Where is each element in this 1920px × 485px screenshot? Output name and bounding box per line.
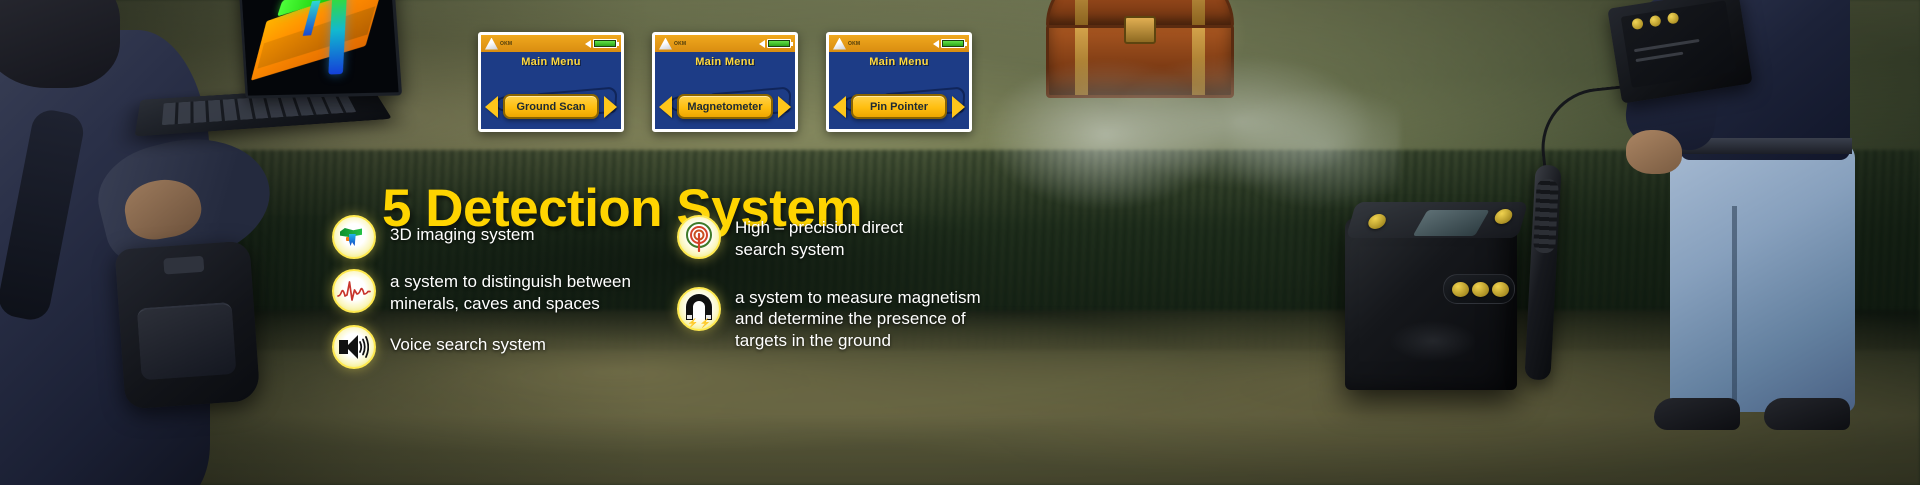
battery-full-icon bbox=[767, 39, 791, 48]
laptop-screen bbox=[238, 0, 402, 99]
feature-column-left: 3D imaging system a system to distinguis… bbox=[332, 215, 662, 379]
laptop-device bbox=[140, 0, 390, 164]
control-unit-body bbox=[1345, 218, 1517, 390]
right-operator-figure bbox=[1640, 0, 1920, 485]
speaker-sound-glyph bbox=[339, 335, 369, 359]
signal-waveform-glyph bbox=[337, 279, 371, 303]
brand-logo: OKM bbox=[485, 38, 512, 50]
chevron-right-icon[interactable] bbox=[604, 96, 617, 118]
operator-shoe-right bbox=[1764, 398, 1850, 430]
scan-depth-column bbox=[328, 0, 347, 75]
feature-label: a system to distinguish between minerals… bbox=[390, 269, 631, 315]
control-unit-knob-panel bbox=[1443, 274, 1515, 304]
magnet-glyph: ⚡⚡ bbox=[686, 294, 712, 324]
signal-waveform-icon bbox=[332, 269, 376, 313]
menu-status-bar: OKM bbox=[829, 35, 969, 52]
right-operator-hand bbox=[1626, 130, 1682, 174]
menu-mode-button[interactable]: Pin Pointer bbox=[851, 94, 947, 119]
menu-screen-pin-pointer[interactable]: OKM Main Menu Pin Pointer bbox=[826, 32, 972, 132]
menu-mode-button[interactable]: Ground Scan bbox=[503, 94, 599, 119]
speaker-icon bbox=[759, 40, 765, 48]
menu-title: Main Menu bbox=[481, 56, 621, 68]
feature-item-mineral-distinguish: a system to distinguish between minerals… bbox=[332, 269, 662, 315]
speaker-sound-icon bbox=[332, 325, 376, 369]
chevron-left-icon[interactable] bbox=[833, 96, 846, 118]
logo-text: OKM bbox=[848, 41, 860, 47]
menu-title: Main Menu bbox=[829, 56, 969, 68]
top-knob-left bbox=[1366, 214, 1387, 229]
control-unit-display bbox=[1413, 210, 1490, 236]
bag-clip bbox=[163, 256, 204, 275]
brand-logo: OKM bbox=[833, 38, 860, 50]
radar-target-glyph bbox=[684, 222, 714, 252]
chevron-left-icon[interactable] bbox=[659, 96, 672, 118]
probe-grip bbox=[1533, 179, 1559, 254]
status-indicators bbox=[585, 39, 617, 48]
speaker-icon bbox=[933, 40, 939, 48]
status-indicators bbox=[759, 39, 791, 48]
brand-logo: OKM bbox=[659, 38, 686, 50]
equipment-bag bbox=[115, 240, 261, 409]
control-knob-2 bbox=[1472, 282, 1489, 297]
menu-selector-row: Magnetometer bbox=[655, 94, 795, 119]
status-indicators bbox=[933, 39, 965, 48]
control-knob-1 bbox=[1452, 282, 1469, 297]
menu-screen-ground-scan[interactable]: OKM Main Menu Ground Scan bbox=[478, 32, 624, 132]
device-menu-screens: OKM Main Menu Ground Scan bbox=[478, 32, 972, 132]
3d-terrain-icon bbox=[332, 215, 376, 259]
feature-item-magnetism: ⚡⚡ a system to measure magnetism and det… bbox=[677, 287, 1022, 352]
menu-selector-row: Pin Pointer bbox=[829, 94, 969, 119]
3d-terrain-glyph bbox=[339, 226, 369, 248]
feature-item-3d-imaging: 3D imaging system bbox=[332, 215, 662, 259]
feature-label: 3D imaging system bbox=[390, 215, 535, 246]
feature-label: Voice search system bbox=[390, 325, 546, 356]
chevron-right-icon[interactable] bbox=[778, 96, 791, 118]
control-unit-logo-emboss bbox=[1373, 313, 1493, 369]
menu-mode-button[interactable]: Magnetometer bbox=[677, 94, 773, 119]
detector-control-unit bbox=[1345, 200, 1530, 395]
radar-target-icon bbox=[677, 215, 721, 259]
speaker-icon bbox=[585, 40, 591, 48]
feature-label: a system to measure magnetism and determ… bbox=[735, 287, 981, 352]
magnet-icon: ⚡⚡ bbox=[677, 287, 721, 331]
menu-status-bar: OKM bbox=[481, 35, 621, 52]
menu-status-bar: OKM bbox=[655, 35, 795, 52]
top-knob-right bbox=[1493, 209, 1514, 224]
chest-lid-band-right bbox=[1192, 0, 1205, 25]
bag-pocket bbox=[137, 302, 237, 380]
feature-item-voice-search: Voice search system bbox=[332, 325, 662, 369]
feature-label: High – precision direct search system bbox=[735, 215, 903, 261]
battery-full-icon bbox=[941, 39, 965, 48]
chevron-left-icon[interactable] bbox=[485, 96, 498, 118]
logo-text: OKM bbox=[500, 41, 512, 47]
logo-text: OKM bbox=[674, 41, 686, 47]
operator-jeans bbox=[1670, 142, 1855, 412]
mist-effect bbox=[980, 30, 1400, 220]
jeans-seam bbox=[1732, 206, 1737, 406]
chest-lid-band-left bbox=[1075, 0, 1088, 25]
menu-screen-magnetometer[interactable]: OKM Main Menu Magnetometer bbox=[652, 32, 798, 132]
operator-head bbox=[0, 0, 120, 88]
menu-title: Main Menu bbox=[655, 56, 795, 68]
control-knob-3 bbox=[1492, 282, 1509, 297]
3d-scan-visualization bbox=[241, 0, 399, 96]
feature-column-right: High – precision direct search system ⚡⚡… bbox=[677, 215, 1022, 362]
chevron-right-icon[interactable] bbox=[952, 96, 965, 118]
promo-banner: OKM Main Menu Ground Scan bbox=[0, 0, 1920, 485]
logo-mark-icon bbox=[659, 38, 672, 50]
logo-mark-icon bbox=[485, 38, 498, 50]
battery-full-icon bbox=[593, 39, 617, 48]
menu-selector-row: Ground Scan bbox=[481, 94, 621, 119]
control-unit-top bbox=[1346, 202, 1528, 238]
operator-shoe-left bbox=[1654, 398, 1740, 430]
logo-mark-icon bbox=[833, 38, 846, 50]
feature-item-high-precision: High – precision direct search system bbox=[677, 215, 1022, 261]
